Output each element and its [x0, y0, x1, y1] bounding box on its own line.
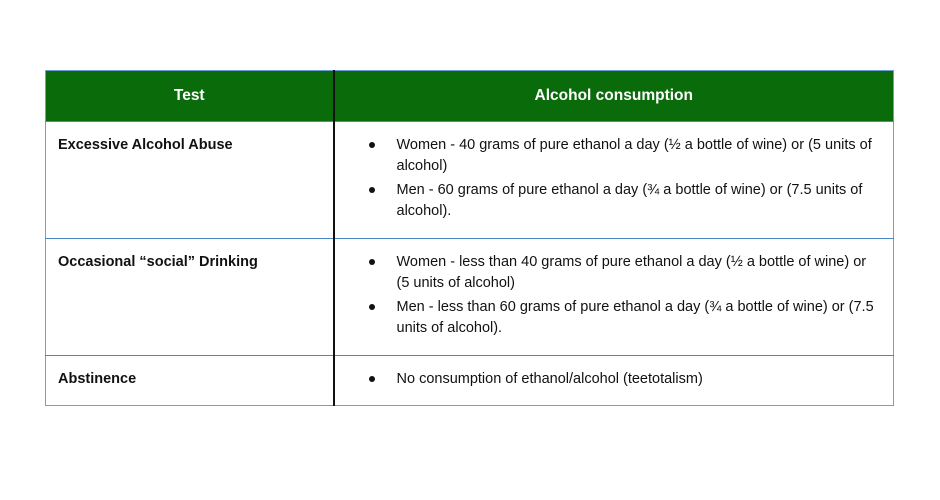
row-label-occasional-social-drinking: Occasional “social” Drinking — [46, 238, 334, 355]
table-row: Excessive Alcohol Abuse Women - 40 grams… — [46, 122, 894, 239]
list-item: Women - 40 grams of pure ethanol a day (… — [335, 135, 880, 178]
row-label-abstinence: Abstinence — [46, 355, 334, 406]
column-header-alcohol-consumption: Alcohol consumption — [334, 71, 894, 122]
row-consumption-abstinence: No consumption of ethanol/alcohol (teeto… — [334, 355, 894, 406]
list-item: Men - less than 60 grams of pure ethanol… — [335, 297, 880, 340]
alcohol-consumption-table: Test Alcohol consumption Excessive Alcoh… — [45, 70, 894, 406]
bullet-list: No consumption of ethanol/alcohol (teeto… — [335, 369, 880, 390]
list-item: Men - 60 grams of pure ethanol a day (¾ … — [335, 180, 880, 223]
bullet-list: Women - less than 40 grams of pure ethan… — [335, 252, 880, 340]
row-label-excessive-alcohol-abuse: Excessive Alcohol Abuse — [46, 122, 334, 239]
list-item: Women - less than 40 grams of pure ethan… — [335, 252, 880, 295]
list-item: No consumption of ethanol/alcohol (teeto… — [335, 369, 880, 390]
table-header-row: Test Alcohol consumption — [46, 71, 894, 122]
table-header: Test Alcohol consumption — [46, 71, 894, 122]
row-consumption-occasional-social-drinking: Women - less than 40 grams of pure ethan… — [334, 238, 894, 355]
table-row: Abstinence No consumption of ethanol/alc… — [46, 355, 894, 406]
table-body: Excessive Alcohol Abuse Women - 40 grams… — [46, 122, 894, 406]
bullet-list: Women - 40 grams of pure ethanol a day (… — [335, 135, 880, 223]
column-header-test: Test — [46, 71, 334, 122]
alcohol-consumption-table-container: Test Alcohol consumption Excessive Alcoh… — [45, 70, 893, 406]
row-consumption-excessive-alcohol-abuse: Women - 40 grams of pure ethanol a day (… — [334, 122, 894, 239]
table-row: Occasional “social” Drinking Women - les… — [46, 238, 894, 355]
